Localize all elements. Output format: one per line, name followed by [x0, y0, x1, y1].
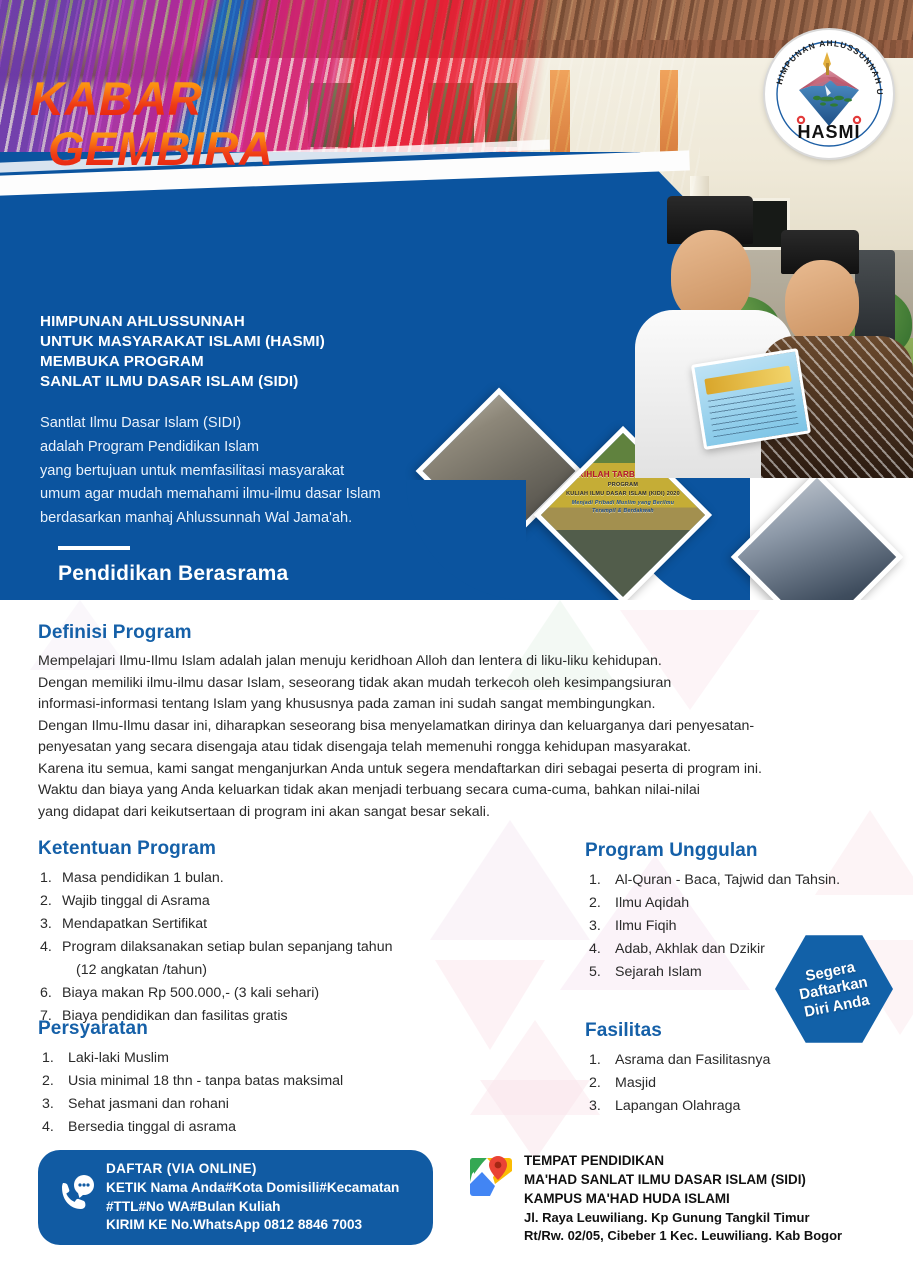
- intro-line-4: umum agar mudah memahami ilmu-ilmu dasar…: [40, 483, 470, 507]
- decor-triangle-rose3: [480, 1080, 590, 1160]
- list-item: Biaya makan Rp 500.000,- (3 kali sehari): [38, 982, 488, 1005]
- list-item: Sehat jasmani dan rohani: [38, 1093, 488, 1116]
- list-item: Mendapatkan Sertifikat: [38, 913, 488, 936]
- daftar-line-3: #TTL#No WA#Bulan Kuliah: [106, 1198, 399, 1217]
- hasmi-logo-svg: HIMPUNAN AHLUSSUNNAH UNTUK MASYARAKAT IS…: [765, 30, 893, 158]
- unggulan-heading: Program Unggulan: [585, 840, 913, 862]
- org-heading-line-2: UNTUK MASYARAKAT ISLAMI (HASMI): [40, 332, 470, 352]
- title-line-2: GEMBIRA: [48, 122, 273, 175]
- tempat-pendidikan-block: TEMPAT PENDIDIKAN MA'HAD SANLAT ILMU DAS…: [468, 1152, 913, 1245]
- list-item: Laki-laki Muslim: [38, 1047, 488, 1070]
- list-item: Asrama dan Fasilitasnya: [585, 1049, 913, 1072]
- google-maps-icon: [468, 1154, 514, 1200]
- definisi-line-8: yang didapat dari keikutsertaan di progr…: [38, 802, 913, 824]
- list-item: Masa pendidikan 1 bulan.: [38, 867, 488, 890]
- photo-inset-classroom: [731, 471, 904, 600]
- list-item: Ilmu Aqidah: [585, 892, 913, 915]
- list-item: Ilmu Fiqih: [585, 915, 913, 938]
- title-line-1: KABAR: [30, 72, 202, 125]
- list-item: Bersedia tinggal di asrama: [38, 1116, 488, 1139]
- intro-line-5: berdasarkan manhaj Ahlussunnah Wal Jama'…: [40, 507, 470, 531]
- banner-line4: Terampil & Berdakwah: [545, 508, 701, 515]
- persyaratan-list: Laki-laki Muslim Usia minimal 18 thn - t…: [38, 1047, 488, 1139]
- org-heading-line-3: MEMBUKA PROGRAM: [40, 352, 470, 372]
- badge-text: Segera Daftarkan Diri Anda: [795, 957, 873, 1021]
- tagline: Pendidikan Berasrama: [58, 562, 470, 586]
- program-intro: Santlat Ilmu Dasar Islam (SIDI) adalah P…: [40, 412, 470, 530]
- phone-chat-icon: [54, 1173, 98, 1222]
- address-line-3: KAMPUS MA'HAD HUDA ISLAMI: [524, 1190, 842, 1209]
- daftar-line-1: DAFTAR (VIA ONLINE): [106, 1160, 399, 1179]
- daftar-line-4: KIRIM KE No.WhatsApp 0812 8846 7003: [106, 1216, 399, 1235]
- address-line-1: TEMPAT PENDIDIKAN: [524, 1152, 842, 1171]
- definisi-heading: Definisi Program: [38, 622, 913, 644]
- content-section: Definisi Program Mempelajari Ilmu-Ilmu I…: [0, 600, 913, 1280]
- list-item-continuation: (12 angkatan /tahun): [38, 959, 488, 982]
- fasilitas-list: Asrama dan Fasilitasnya Masjid Lapangan …: [585, 1049, 913, 1118]
- definisi-program-section: Definisi Program Mempelajari Ilmu-Ilmu I…: [38, 622, 913, 824]
- students-photo-cutout: [585, 178, 913, 478]
- list-item: Wajib tinggal di Asrama: [38, 890, 488, 913]
- hero-section: KABAR GEMBIRA HIMPUNAN AHLUSSUNNAH: [0, 0, 913, 600]
- daftar-line-2: KETIK Nama Anda#Kota Domisili#Kecamatan: [106, 1179, 399, 1198]
- intro-line-1: Santlat Ilmu Dasar Islam (SIDI): [40, 412, 470, 436]
- ketentuan-list: Masa pendidikan 1 bulan. Wajib tinggal d…: [38, 867, 488, 1028]
- blue-panel-text: HIMPUNAN AHLUSSUNNAH UNTUK MASYARAKAT IS…: [40, 312, 470, 586]
- org-heading-line-1: HIMPUNAN AHLUSSUNNAH: [40, 312, 470, 332]
- student-head-left: [671, 230, 751, 322]
- list-item: Al-Quran - Baca, Tajwid dan Tahsin.: [585, 869, 913, 892]
- definisi-line-6: Karena itu semua, kami sangat menganjurk…: [38, 759, 913, 781]
- definisi-line-7: Waktu dan biaya yang Anda keluarkan tida…: [38, 780, 913, 802]
- definisi-line-1: Mempelajari Ilmu-Ilmu Islam adalah jalan…: [38, 651, 913, 673]
- quran-book: [691, 348, 811, 450]
- intro-line-2: adalah Program Pendidikan Islam: [40, 436, 470, 460]
- persyaratan-section: Persyaratan Laki-laki Muslim Usia minima…: [38, 1018, 488, 1139]
- definisi-line-2: Dengan memiliki ilmu-ilmu dasar Islam, s…: [38, 673, 913, 695]
- ketentuan-program-section: Ketentuan Program Masa pendidikan 1 bula…: [38, 838, 488, 1028]
- definisi-line-3: informasi-informasi tentang Islam yang k…: [38, 694, 913, 716]
- definisi-paragraph: Mempelajari Ilmu-Ilmu Islam adalah jalan…: [38, 651, 913, 824]
- banner-line3: Menjadi Pribadi Muslim yang Berilmu: [545, 500, 701, 507]
- daftar-online-box[interactable]: DAFTAR (VIA ONLINE) KETIK Nama Anda#Kota…: [38, 1150, 433, 1245]
- definisi-line-4: Dengan Ilmu-Ilmu dasar ini, diharapkan s…: [38, 716, 913, 738]
- tagline-divider: [58, 546, 130, 550]
- ketentuan-heading: Ketentuan Program: [38, 838, 488, 860]
- list-item: Program dilaksanakan setiap bulan sepanj…: [38, 936, 488, 959]
- definisi-line-5: penyesatan yang secara disengaja atau ti…: [38, 737, 913, 759]
- address-line-5: Rt/Rw. 02/05, Cibeber 1 Kec. Leuwiliang.…: [524, 1227, 842, 1245]
- student-head-right: [785, 260, 859, 346]
- list-item: Lapangan Olahraga: [585, 1095, 913, 1118]
- persyaratan-heading: Persyaratan: [38, 1018, 488, 1040]
- org-heading-line-4: SANLAT ILMU DASAR ISLAM (SIDI): [40, 372, 470, 392]
- address-text: TEMPAT PENDIDIKAN MA'HAD SANLAT ILMU DAS…: [524, 1152, 842, 1245]
- svg-text:HASMI: HASMI: [798, 122, 861, 142]
- org-heading: HIMPUNAN AHLUSSUNNAH UNTUK MASYARAKAT IS…: [40, 312, 470, 392]
- poster-title: KABAR GEMBIRA: [30, 76, 273, 171]
- list-item: Usia minimal 18 thn - tanpa batas maksim…: [38, 1070, 488, 1093]
- banner-line2: KULIAH ILMU DASAR ISLAM (KIDI) 2020: [545, 491, 701, 498]
- hasmi-logo: HIMPUNAN AHLUSSUNNAH UNTUK MASYARAKAT IS…: [765, 30, 893, 158]
- daftar-text: DAFTAR (VIA ONLINE) KETIK Nama Anda#Kota…: [106, 1160, 399, 1234]
- list-item: Masjid: [585, 1072, 913, 1095]
- poster-root: KABAR GEMBIRA HIMPUNAN AHLUSSUNNAH: [0, 0, 913, 1280]
- address-line-2: MA'HAD SANLAT ILMU DASAR ISLAM (SIDI): [524, 1171, 842, 1190]
- banner-line1: PROGRAM: [545, 482, 701, 489]
- intro-line-3: yang bertujuan untuk memfasilitasi masya…: [40, 460, 470, 484]
- address-line-4: Jl. Raya Leuwiliang. Kp Gunung Tangkil T…: [524, 1209, 842, 1227]
